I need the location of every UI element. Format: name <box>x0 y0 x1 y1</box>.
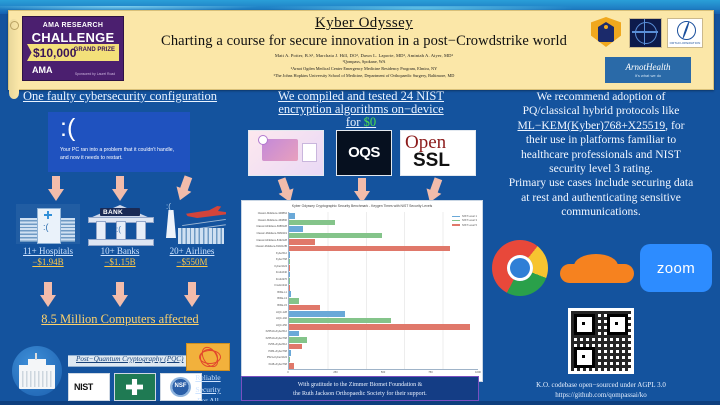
nist-logo-label: NIST <box>74 382 93 392</box>
recommendation-line-2: PQ/classical hybrid protocols like <box>486 104 716 118</box>
chart-plot-area: Classic-McEliece-348864Classic-McEliece-… <box>288 212 478 370</box>
center-heading-for: for <box>346 115 364 129</box>
chart-bar <box>289 265 290 271</box>
chart-bar <box>289 246 450 252</box>
down-arrow-icon <box>112 176 128 202</box>
chart-bar <box>289 226 303 232</box>
reliable-security-block: Reliable Security For All <box>186 343 230 405</box>
down-arrow-icon <box>112 282 128 308</box>
chart-bar-label: HQC-256 <box>276 324 287 327</box>
chart-bar-label: Frodo976 <box>276 278 287 281</box>
poster-header: AMA RESEARCH CHALLENGE $10,000 GRAND PRI… <box>8 10 714 90</box>
ama-prize-amount: $10,000 <box>33 46 76 60</box>
chart-bar <box>289 285 290 291</box>
page-subtitle: Charting a course for secure innovation … <box>129 33 599 50</box>
recommendation-line-3-tail: , for <box>665 119 684 132</box>
chart-bar <box>289 318 391 324</box>
chart-bar-label: Classic-McEliece-348864 <box>258 212 287 215</box>
chart-bar-row: HQC-128 <box>289 311 478 317</box>
chart-bar-row: P521+Kyber1024 <box>289 357 478 363</box>
ama-logo: AMA <box>32 65 53 75</box>
chart-bar-row: Classic-McEliece-6688128 <box>289 226 478 232</box>
chart-bar-label: X25519+Kyber768 <box>265 337 287 340</box>
chart-title: Kyber Odyssey Cryptographic Security Ben… <box>242 204 482 208</box>
chart-bar-label: BIKE-L5 <box>277 304 287 307</box>
chart-bar <box>289 331 299 337</box>
affiliation-3: ³The Johns Hopkins University School of … <box>129 73 599 79</box>
chart-bar-label: Classic-McEliece-6960119 <box>256 232 287 235</box>
ama-badge-line2: CHALLENGE <box>23 30 123 45</box>
bank-icon: BANK :( <box>84 202 156 246</box>
chart-bar <box>289 298 299 304</box>
qompass-illustration-logo <box>248 130 324 176</box>
poster-canvas: AMA RESEARCH CHALLENGE $10,000 GRAND PRI… <box>0 0 720 405</box>
stat-hospitals-amount: −$1.94B <box>12 257 84 268</box>
stat-banks: BANK :( 10+ Banks −$1.15B <box>84 202 156 268</box>
chart-bar-label: Classic-McEliece-460896 <box>258 219 287 222</box>
chart-x-tick: 750 <box>428 371 432 374</box>
hybrid-protocol-name: ML−KEM(Kyber)768+X25519 <box>517 119 665 132</box>
nist-logo: NIST <box>68 373 110 401</box>
chart-bar-row: Classic-McEliece-8192128 <box>289 239 478 245</box>
chart-bar-row: X25519+Kyber512 <box>289 331 478 337</box>
chart-bar <box>289 233 382 239</box>
stat-hospitals-label: 11+ Hospitals <box>12 246 84 257</box>
chart-bar-row: Kyber768 <box>289 259 478 265</box>
chart-bar-row: HQC-256 <box>289 324 478 330</box>
chart-bar <box>289 357 290 363</box>
stat-airlines: :( 20+ Airlines −$550M <box>156 202 228 268</box>
title-block: Kyber Odyssey Charting a course for secu… <box>129 15 599 79</box>
chart-bar <box>289 363 294 369</box>
chart-x-tick: 250 <box>333 371 337 374</box>
bsod-sad-face: :( <box>60 116 75 141</box>
stat-hospitals: :( 11+ Hospitals −$1.94B <box>12 202 84 268</box>
qompass-shield-icon <box>591 17 621 47</box>
chart-x-tick: 500 <box>381 371 385 374</box>
atom-monitor-icon <box>186 343 230 371</box>
center-column: We compiled and tested 24 NIST encryptio… <box>238 90 484 401</box>
oqs-logo: OQS <box>336 130 392 176</box>
openssl-label-bottom: SSL <box>413 150 450 172</box>
acknowledgement-box: With gratitude to the Zimmer Biomet Foun… <box>241 376 479 401</box>
chart-bar-row: X25519+Kyber768 <box>289 337 478 343</box>
hospital-icon: :( <box>12 202 84 246</box>
chart-x-tick: 1000 <box>475 371 481 374</box>
chart-bar-label: Classic-McEliece-8192128f <box>256 245 287 248</box>
chart-legend-item: NIST Level 5 <box>452 224 477 228</box>
chart-bar-label: P521+Kyber1024 <box>267 356 287 359</box>
chart-bar <box>289 311 345 317</box>
ama-research-challenge-badge: AMA RESEARCH CHALLENGE $10,000 GRAND PRI… <box>22 16 124 81</box>
compass-star-icon <box>629 18 662 48</box>
bsod-message: Your PC ran into a problem that it could… <box>60 146 180 162</box>
thanks-line-1: With gratitude to the Zimmer Biomet Foun… <box>242 381 478 390</box>
pqc-arrow-label: Post−Quantum Cryptography (PQC) <box>76 355 183 363</box>
chart-bar-label: Kyber768 <box>276 258 287 261</box>
white-house-icon <box>12 346 62 396</box>
down-arrow-icon <box>184 282 200 308</box>
bsod-screenshot: :( Your PC ran into a problem that it co… <box>48 112 190 172</box>
recommendation-line-4: their use in platforms familiar to <box>486 133 716 147</box>
left-column: One faulty cybersecurity configuration :… <box>4 90 236 401</box>
ama-prize-sub: GRAND PRIZE <box>74 48 115 53</box>
recommendation-line-3: ML−KEM(Kyber)768+X25519, for <box>486 119 716 133</box>
chart-bar <box>289 278 290 284</box>
chart-bar-row: P384+Kyber768 <box>289 350 478 356</box>
stat-banks-label: 10+ Banks <box>84 246 156 257</box>
header-logo-group: ORTHO-OPERATION ArnotHealth It's what we… <box>589 15 707 85</box>
chart-legend: NIST Level 1NIST Level 3NIST Level 5 <box>452 215 477 228</box>
benchmark-chart: Kyber Odyssey Cryptographic Security Ben… <box>241 200 483 382</box>
chart-bar-label: Classic-McEliece-8192128 <box>256 239 287 242</box>
chart-bar-row: Kyber1024 <box>289 265 478 271</box>
chart-bar <box>289 272 290 278</box>
repo-url[interactable]: https://github.com/qompassai/ko <box>486 390 716 400</box>
chrome-logo <box>492 240 548 296</box>
center-heading-cost: $0 <box>364 115 377 129</box>
zoom-logo-label: zoom <box>640 260 712 277</box>
chart-bar-row: P256+Kyber512 <box>289 344 478 350</box>
zoom-logo: zoom <box>640 244 712 292</box>
chart-bar <box>289 213 295 219</box>
chart-bar <box>289 344 302 350</box>
ortho-logo-caption: ORTHO-OPERATION <box>668 41 702 45</box>
chart-bar-row: X448+Kyber768 <box>289 363 478 369</box>
cloudflare-logo <box>560 252 634 286</box>
affiliation-1: ¹Qompass, Spokane, WA <box>129 59 599 65</box>
pqc-pathway-block: Post−Quantum Cryptography (PQC) NIST Rel… <box>10 343 232 399</box>
chart-bar <box>289 259 290 265</box>
chart-bar-label: Frodo1344 <box>274 284 287 287</box>
chart-bar-label: Frodo640 <box>276 271 287 274</box>
thanks-line-2: the Ruth Jackson Orthopaedic Society for… <box>242 390 478 399</box>
chart-bar <box>289 239 315 245</box>
chart-bar-row: Kyber512 <box>289 252 478 258</box>
arnot-health-tagline: It's what we do <box>605 73 691 78</box>
qr-code[interactable] <box>568 308 634 374</box>
chart-bar <box>289 337 307 343</box>
recommendation-line-6: security level 3 rating. <box>486 162 716 176</box>
airline-icon: :( <box>156 202 228 246</box>
chart-x-tick: 0 <box>287 371 288 374</box>
hhs-logo <box>114 373 156 401</box>
chart-bar-label: P256+Kyber512 <box>268 343 287 346</box>
arnot-health-name: ArnotHealth <box>605 62 691 72</box>
left-column-heading: One faulty cybersecurity configuration <box>4 90 236 103</box>
chart-bar-row: BIKE-L1 <box>289 291 478 297</box>
chart-bar-label: X25519+Kyber512 <box>265 330 287 333</box>
recommendation-line-1: We recommend adoption of <box>486 90 716 104</box>
down-arrow-icon <box>40 282 56 308</box>
ama-fine-print: Sponsored by Laurel Road <box>72 72 118 76</box>
computers-affected-text: 8.5 Million Computers affected <box>4 312 236 327</box>
chart-bar <box>289 220 335 226</box>
stat-banks-amount: −$1.15B <box>84 257 156 268</box>
platform-logo-row: zoom <box>486 238 716 300</box>
center-heading-line3: for $0 <box>238 116 484 129</box>
chart-bar-label: BIKE-L3 <box>277 297 287 300</box>
chart-bar-label: P384+Kyber768 <box>268 350 287 353</box>
right-column: We recommend adoption of PQ/classical hy… <box>486 90 716 401</box>
chart-bar-label: X448+Kyber768 <box>268 363 287 366</box>
recommendation-line-5: healthcare professionals and NIST <box>486 148 716 162</box>
chart-bar-row: BIKE-L3 <box>289 298 478 304</box>
reliable-line-1: Reliable <box>186 373 230 383</box>
oqs-logo-label: OQS <box>337 144 391 161</box>
author-list: Matt A. Potter, B.S¹, Marchata J. Hill, … <box>129 53 599 58</box>
openssl-logo: Open SSL <box>400 130 476 176</box>
chart-bar-label: Classic-McEliece-6688128 <box>256 225 287 228</box>
arnot-health-logo: ArnotHealth It's what we do <box>605 57 691 83</box>
chart-bar-row: HQC-192 <box>289 318 478 324</box>
chart-bar <box>289 350 291 356</box>
chart-bar-row: Frodo1344 <box>289 285 478 291</box>
chart-bar <box>289 291 291 297</box>
chart-bar <box>289 305 320 311</box>
chart-bar-row: Frodo640 <box>289 272 478 278</box>
chart-bar-label: HQC-128 <box>276 311 287 314</box>
chart-bar-row: BIKE-L5 <box>289 305 478 311</box>
chart-bar-label: Kyber1024 <box>274 265 287 268</box>
ama-prize-ribbon: $10,000 GRAND PRIZE <box>27 44 119 61</box>
license-line: K.O. codebase open−sourced under AGPL 3.… <box>486 380 716 390</box>
page-title: Kyber Odyssey <box>129 15 599 32</box>
license-footer: K.O. codebase open−sourced under AGPL 3.… <box>486 380 716 400</box>
chart-bar <box>289 324 470 330</box>
chart-bar-label: BIKE-L1 <box>277 291 287 294</box>
reliable-line-2: Security <box>186 385 230 395</box>
stat-airlines-label: 20+ Airlines <box>156 246 228 257</box>
recommendation-text: We recommend adoption of PQ/classical hy… <box>486 90 716 220</box>
ama-badge-line1: AMA RESEARCH <box>23 22 123 29</box>
down-arrow-icon <box>172 174 196 204</box>
chart-bar-row: Classic-McEliece-348864 <box>289 213 478 219</box>
chart-bar-row: Frodo976 <box>289 278 478 284</box>
chart-bar-row: Classic-McEliece-460896 <box>289 220 478 226</box>
ortho-operation-logo: ORTHO-OPERATION <box>667 18 703 48</box>
down-arrow-icon <box>48 176 64 202</box>
recommendation-line-7: Primary use cases include securing data <box>486 176 716 190</box>
affiliation-2: ²Arnot Ogden Medical Center Emergency Me… <box>129 66 599 72</box>
bottom-bar-decoration <box>0 401 720 405</box>
recommendation-line-8: at rest and authenticating sensitive <box>486 191 716 205</box>
stat-airlines-amount: −$550M <box>156 257 228 268</box>
recommendation-line-9: communications. <box>486 205 716 219</box>
chart-bar-label: Kyber512 <box>276 252 287 255</box>
chart-bar-row: Classic-McEliece-6960119 <box>289 233 478 239</box>
chart-bar-label: HQC-192 <box>276 317 287 320</box>
scroll-edge-decoration <box>9 19 19 99</box>
chart-bar <box>289 252 290 258</box>
chart-bar-row: Classic-McEliece-8192128f <box>289 246 478 252</box>
